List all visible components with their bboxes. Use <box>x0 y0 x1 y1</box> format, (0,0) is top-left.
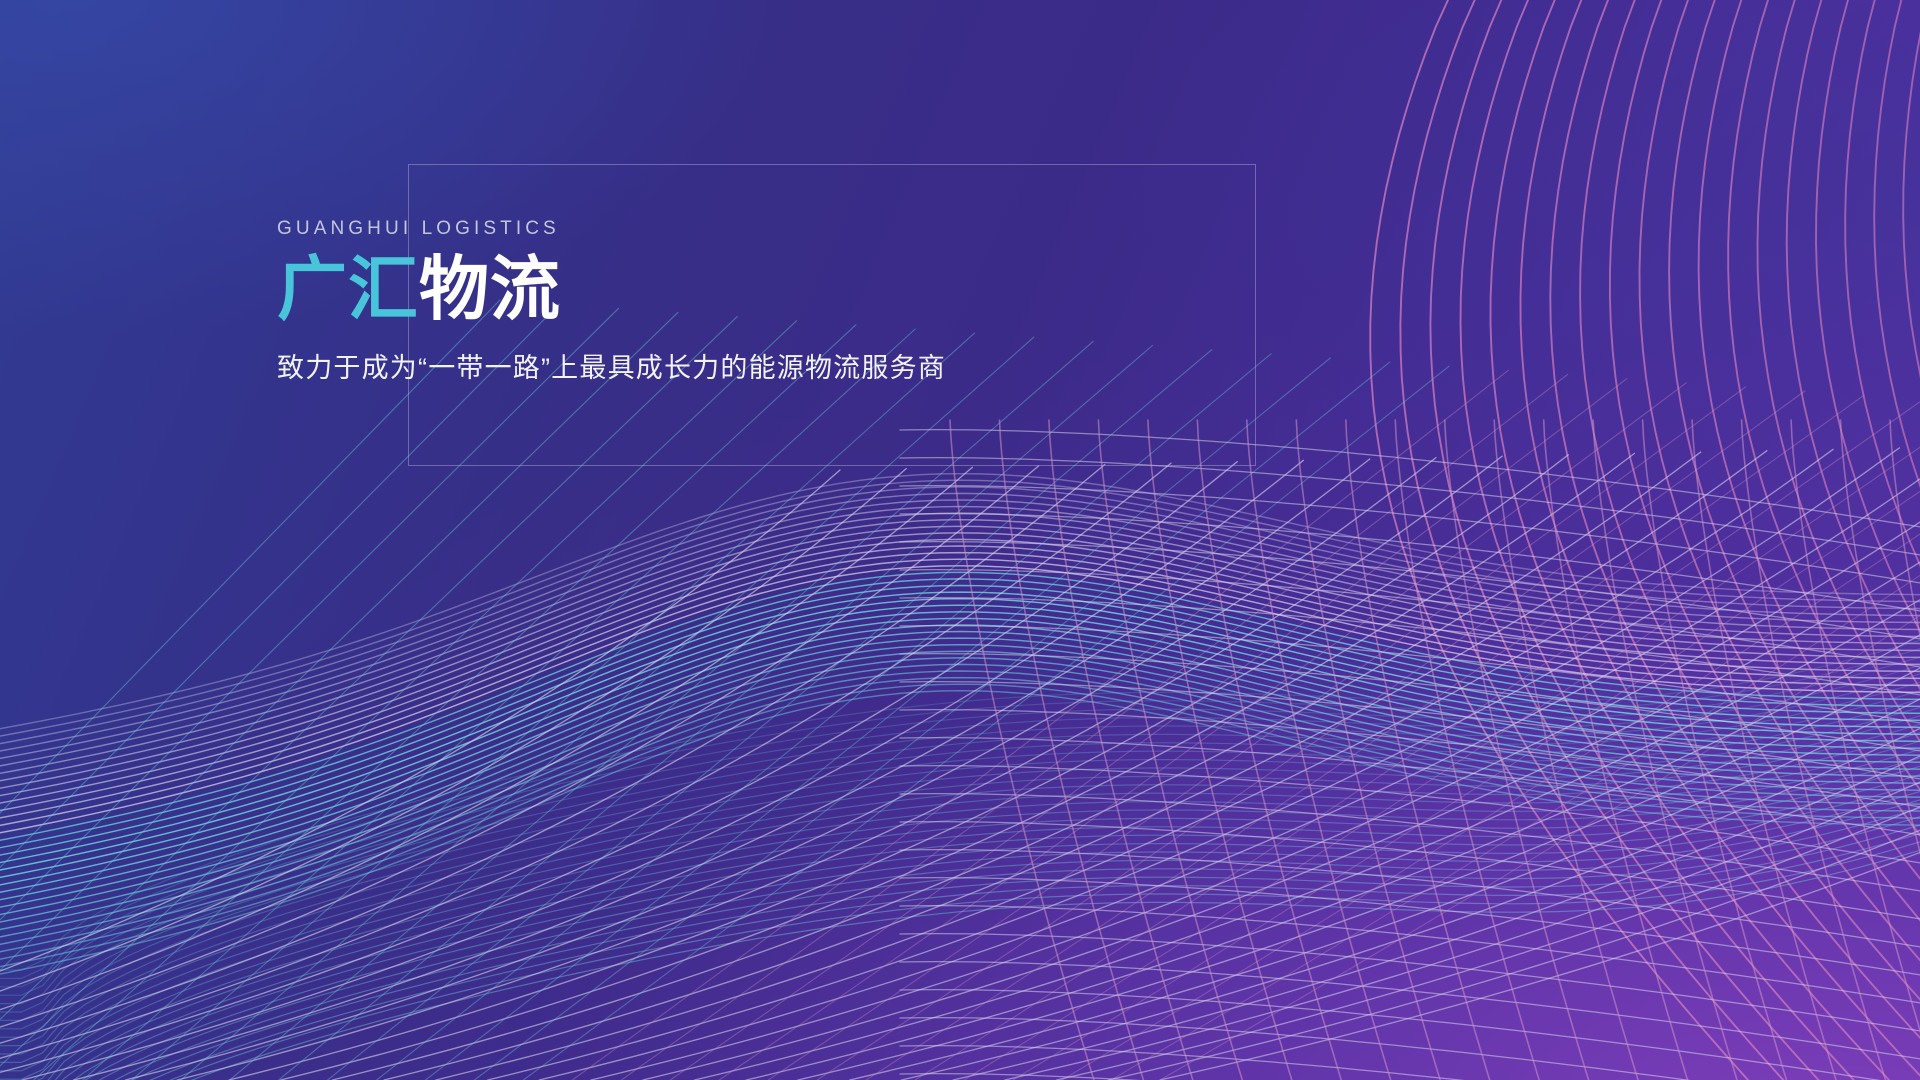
brand-title: 广汇物流 <box>277 252 1277 328</box>
brand-tagline: 致力于成为“一带一路”上最具成长力的能源物流服务商 <box>277 350 1277 386</box>
brand-eyebrow: GUANGHUI LOGISTICS <box>277 219 1277 238</box>
hero-text-block: GUANGHUI LOGISTICS 广汇物流 致力于成为“一带一路”上最具成长… <box>277 219 1277 386</box>
brand-title-plain: 物流 <box>419 250 561 328</box>
brand-title-accent: 广汇 <box>277 250 419 328</box>
hero-banner: GUANGHUI LOGISTICS 广汇物流 致力于成为“一带一路”上最具成长… <box>0 0 1920 1080</box>
hero-frame: GUANGHUI LOGISTICS 广汇物流 致力于成为“一带一路”上最具成长… <box>408 164 1256 466</box>
background-gradient <box>0 0 1920 1080</box>
